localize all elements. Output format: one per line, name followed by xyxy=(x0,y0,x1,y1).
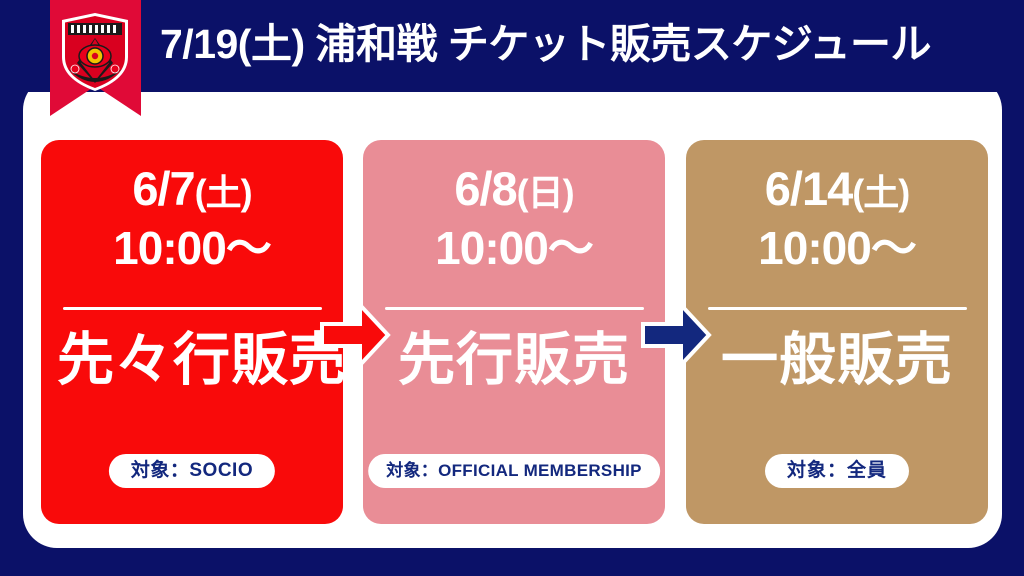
ticket-sales-schedule-poster: 7/19(土) 浦和戦 チケット販売スケジュール 6/7(土) 10:00〜 xyxy=(0,0,1024,576)
sales-card-0[interactable]: 6/7(土) 10:00〜 先々行販売 対象：SOCIO xyxy=(41,140,343,524)
sales-card-weekday: (土) xyxy=(852,172,909,213)
sales-card-weekday: (土) xyxy=(195,172,252,213)
sales-card-weekday: (日) xyxy=(517,172,574,213)
sales-card-divider xyxy=(708,307,967,310)
status-badge: 対象：OFFICIAL MEMBERSHIP xyxy=(368,454,660,488)
sales-card-date: 6/8(日) xyxy=(379,162,649,220)
arrow-right-icon xyxy=(639,298,713,372)
status-badge: 対象：全員 xyxy=(765,454,909,488)
arrow-right-icon xyxy=(318,298,392,372)
sales-schedule-cards: 6/7(土) 10:00〜 先々行販売 対象：SOCIO 6/8(日) 10:0… xyxy=(41,140,988,524)
sales-card-divider xyxy=(63,307,322,310)
sales-card-date: 6/14(土) xyxy=(702,162,972,220)
sales-card-time: 10:00〜 xyxy=(702,222,972,274)
sales-card-type: 先行販売 xyxy=(379,328,649,392)
sales-card-date-value: 6/8 xyxy=(454,162,516,215)
status-badge: 対象：SOCIO xyxy=(109,454,275,488)
sales-card-date-value: 6/7 xyxy=(132,162,194,215)
sales-card-type: 先々行販売 xyxy=(57,328,327,392)
sales-card-date-value: 6/14 xyxy=(765,162,852,215)
sales-card-divider xyxy=(385,307,644,310)
sales-card-time: 10:00〜 xyxy=(379,222,649,274)
sales-card-type: 一般販売 xyxy=(702,328,972,392)
sales-card-date: 6/7(土) xyxy=(57,162,327,220)
sales-card-2[interactable]: 6/14(土) 10:00〜 一般販売 対象：全員 xyxy=(686,140,988,524)
urawa-red-diamonds-crest-icon xyxy=(57,11,133,93)
header-bar: 7/19(土) 浦和戦 チケット販売スケジュール xyxy=(0,0,1024,92)
page-title: 7/19(土) 浦和戦 チケット販売スケジュール xyxy=(160,12,1000,76)
sales-card-time: 10:00〜 xyxy=(57,222,327,274)
sales-card-1[interactable]: 6/8(日) 10:00〜 先行販売 対象：OFFICIAL MEMBERSHI… xyxy=(363,140,665,524)
